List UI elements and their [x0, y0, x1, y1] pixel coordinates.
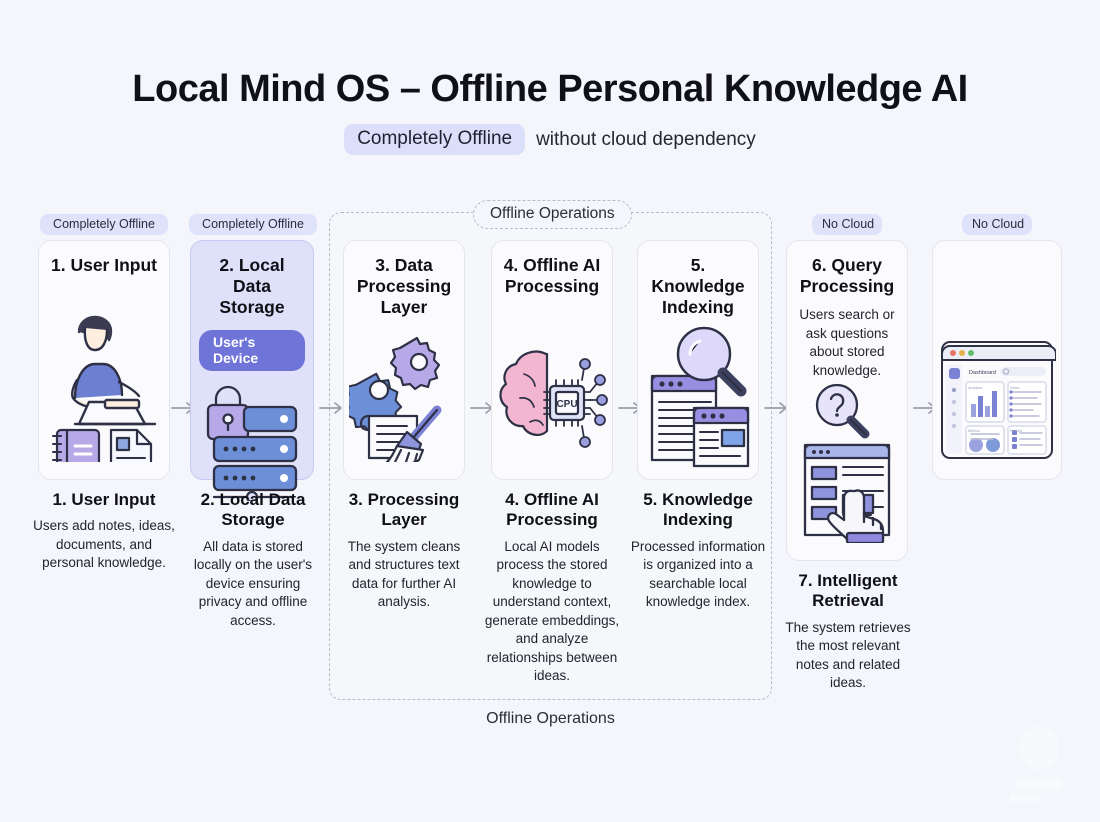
card-offline-ai-processing[interactable]: 4. Offline AI Processing CPU [491, 240, 613, 480]
dashboard-window-title: Dashboard [969, 370, 996, 376]
card-title: 4. Offline AI Processing [500, 255, 604, 297]
card-data-processing-layer[interactable]: 3. Data Processing Layer [343, 240, 465, 480]
caption-title: 5. Knowledge Indexing [630, 490, 766, 531]
page-subtitle: Completely Offline without cloud depende… [0, 124, 1100, 155]
svg-text:Metrics: Metrics [968, 429, 980, 433]
offline-operations-tab-label: Offline Operations [473, 200, 632, 229]
gears-and-document-broom-icon [349, 332, 459, 467]
badge-card-8: No Cloud [962, 214, 1032, 235]
card-title: 3. Data Processing Layer [352, 255, 456, 318]
caption-title: 7. Intelligent Retrieval [780, 571, 916, 612]
card-inline-body: Users search or ask questions about stor… [795, 306, 899, 381]
caption-title: 1. User Input [33, 490, 175, 510]
card-knowledge-indexing[interactable]: 5. Knowledge Indexing [637, 240, 759, 480]
completely-offline-pill: Completely Offline [344, 124, 525, 155]
caption-title: 2. Local Data Storage [183, 490, 323, 531]
badge-card-2: Completely Offline [189, 214, 317, 235]
caption-knowledge-indexing: 5. Knowledge Indexing Processed informat… [630, 490, 766, 612]
question-magnifier-and-hand-clicking-ui-icon [793, 383, 901, 548]
card-title: 2. Local Data Storage [199, 255, 305, 318]
caption-body: Users add notes, ideas, documents, and p… [33, 517, 175, 572]
card-title: 1. User Input [51, 255, 157, 276]
card-user-input[interactable]: 1. User Input [38, 240, 170, 480]
caption-knowledge-interface [924, 490, 1072, 497]
magnifier-over-documents-icon [642, 318, 754, 473]
caption-body: The system retrieves the most relevant n… [780, 619, 916, 693]
users-device-pill: User's Device [199, 330, 305, 371]
caption-offline-ai-processing: 4. Offline AI Processing Local AI models… [484, 490, 620, 686]
brain-cpu-chip-icon: CPU [494, 342, 610, 467]
arrow-2-to-3 [318, 398, 346, 418]
caption-body: Processed information is organized into … [630, 538, 766, 612]
caption-body: All data is stored locally on the user's… [183, 538, 323, 630]
card-title: 6. Query Processing [795, 255, 899, 297]
caption-processing-layer: 3. Processing Layer The system cleans an… [337, 490, 471, 612]
caption-user-input: 1. User Input Users add notes, ideas, do… [33, 490, 175, 573]
subtitle-text: without cloud dependency [536, 129, 756, 151]
watermark-logo [996, 712, 1082, 808]
cpu-chip-label: CPU [556, 399, 577, 410]
card-query-processing[interactable]: 6. Query Processing Users search or ask … [786, 240, 908, 561]
card-local-data-storage[interactable]: 2. Local Data Storage User's Device [190, 240, 314, 480]
dashboard-window-icon: Dashboard Analytics Notes Metrics Result… [938, 338, 1056, 467]
person-at-laptop-with-notebook-and-document-icon [45, 302, 163, 467]
caption-local-data-storage: 2. Local Data Storage All data is stored… [183, 490, 323, 630]
caption-body: The system cleans and structures text da… [337, 538, 471, 612]
caption-body: Local AI models process the stored knowl… [484, 538, 620, 686]
caption-intelligent-retrieval: 7. Intelligent Retrieval The system retr… [780, 571, 916, 693]
offline-operations-bottom-caption: Offline Operations [329, 710, 772, 728]
card-title: 5. Knowledge Indexing [646, 255, 750, 318]
page-title: Local Mind OS – Offline Personal Knowled… [0, 68, 1100, 111]
svg-text:Analytics: Analytics [968, 386, 983, 390]
lock-and-server-stack-icon [196, 371, 308, 506]
svg-text:Results: Results [1010, 429, 1022, 433]
badge-card-6: No Cloud [812, 214, 882, 235]
badge-card-1: Completely Offline [40, 214, 168, 235]
svg-text:Notes: Notes [1010, 386, 1020, 390]
caption-title: 4. Offline AI Processing [484, 490, 620, 531]
card-knowledge-interface[interactable]: Dashboard Analytics Notes Metrics Result… [932, 240, 1062, 480]
caption-title: 3. Processing Layer [337, 490, 471, 531]
